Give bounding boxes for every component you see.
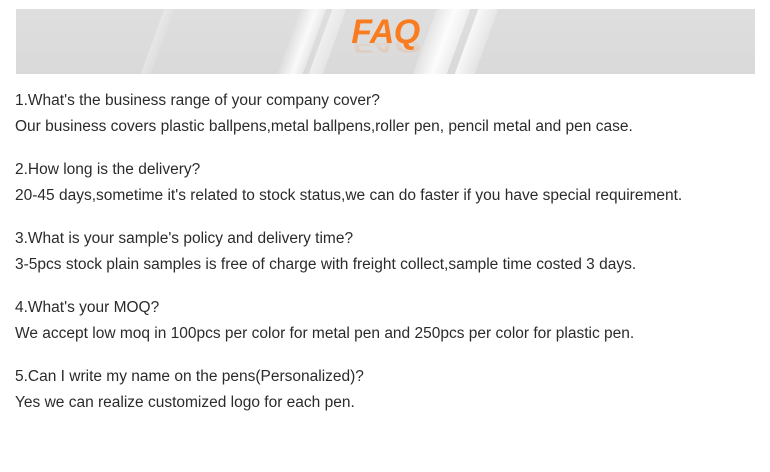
faq-answer: Yes we can realize customized logo for e…: [15, 390, 755, 416]
faq-answer: 3-5pcs stock plain samples is free of ch…: [15, 252, 755, 278]
faq-page: FAQ FAQ 1.What's the business range of y…: [0, 0, 770, 472]
faq-question: 5.Can I write my name on the pens(Person…: [15, 364, 755, 390]
faq-item: 1.What's the business range of your comp…: [15, 88, 755, 140]
faq-question: 1.What's the business range of your comp…: [15, 88, 755, 114]
page-title-reflection: FAQ: [16, 36, 755, 55]
faq-question: 3.What is your sample's policy and deliv…: [15, 226, 755, 252]
faq-banner: FAQ FAQ: [16, 9, 755, 74]
faq-question: 2.How long is the delivery?: [15, 157, 755, 183]
faq-answer: Our business covers plastic ballpens,met…: [15, 114, 755, 140]
faq-answer: 20-45 days,sometime it's related to stoc…: [15, 183, 755, 209]
faq-item: 2.How long is the delivery? 20-45 days,s…: [15, 157, 755, 209]
faq-item: 3.What is your sample's policy and deliv…: [15, 226, 755, 278]
banner-title-wrap: FAQ FAQ: [16, 9, 755, 74]
faq-item: 5.Can I write my name on the pens(Person…: [15, 364, 755, 416]
faq-question: 4.What's your MOQ?: [15, 295, 755, 321]
faq-list: 1.What's the business range of your comp…: [15, 88, 755, 416]
faq-answer: We accept low moq in 100pcs per color fo…: [15, 321, 755, 347]
faq-item: 4.What's your MOQ? We accept low moq in …: [15, 295, 755, 347]
